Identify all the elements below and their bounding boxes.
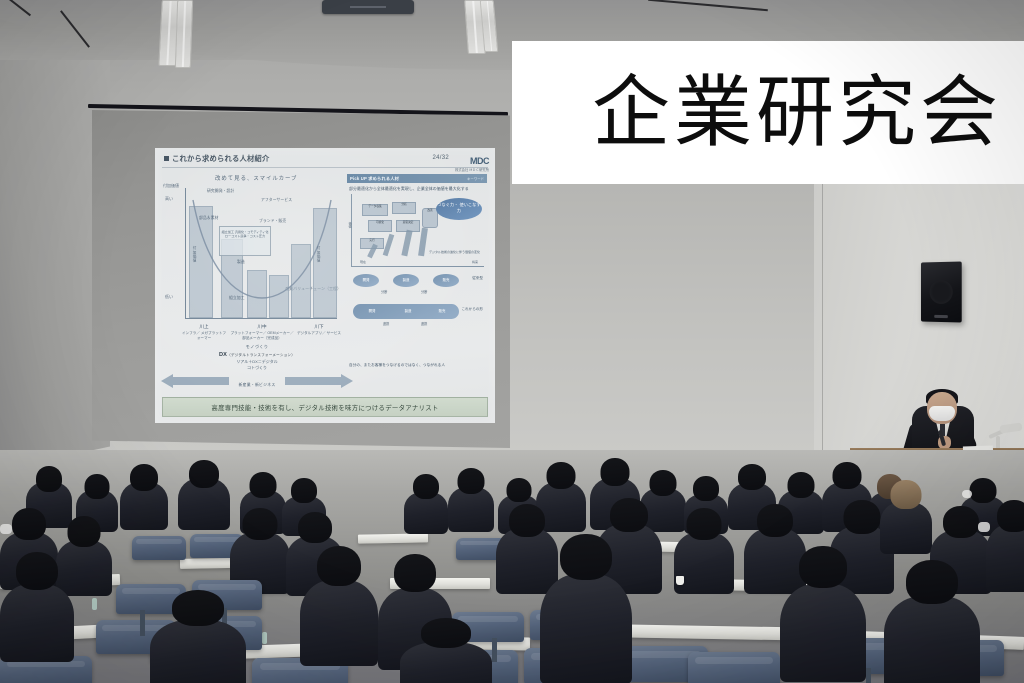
banner-title-text: 企業研究会: [592, 74, 1002, 152]
face-mask-icon: [929, 406, 955, 421]
chart-bar-label: 付加価値: [193, 246, 198, 262]
paper-cup: [676, 576, 684, 585]
speaker-driver: [929, 280, 952, 304]
chart-foot-title: 川中: [229, 324, 295, 330]
audience-area: [0, 450, 1024, 683]
water-bottle: [262, 632, 267, 644]
attendee: [178, 460, 230, 530]
dx-arrows: [169, 374, 345, 388]
dx-title-sub: （デジタルトランスフォーメーション）: [227, 353, 295, 357]
chart-foot-title: 川下: [295, 324, 343, 330]
slide-title: これから求められる人材紹介: [164, 154, 269, 164]
smile-curve-chart: 改めて見る、スマイルカーブ 付加価値 高い 低い 産業バリューチェーン（工程） …: [163, 174, 341, 364]
speaker-brand-label: [934, 315, 948, 318]
lecture-chair: [688, 652, 780, 683]
attendee: [120, 464, 168, 530]
chart-bar: [291, 244, 311, 318]
panel-foot-text: 自分の、またお客様をつなげるのではなく、つながれる人: [349, 363, 445, 368]
panel-oval: 販売: [425, 304, 459, 319]
panel-oval: 製造: [391, 304, 425, 319]
panel-oval: 製造: [393, 274, 419, 287]
panel-row-connected: 開発 製造 販売 連携 連携 これからの形: [351, 304, 483, 324]
lecture-hall-photo: これから求められる人材紹介 24/32 MDC 株式会社 ＭＤＣ研究所 改めて見…: [0, 0, 1024, 683]
wall-speaker-icon: [921, 261, 962, 322]
panel-header-right: キーワード: [467, 176, 484, 181]
slide-summary-text: 高度専門技能・技術を有し、デジタル技術を味方につけるデータアナリスト: [211, 403, 438, 412]
lecture-chair: [132, 536, 186, 560]
chair-leg: [492, 638, 497, 662]
ceiling-vent: [322, 0, 414, 14]
panel-row-note: これからの形: [461, 307, 483, 312]
chair-leg: [140, 610, 145, 636]
panel-arrow: [383, 234, 395, 256]
logo-subtitle: 株式会社 ＭＤＣ研究所: [455, 169, 489, 172]
chart-bar: [247, 270, 267, 318]
panel-header: Pick UP 求められる人材 キーワード: [347, 174, 487, 183]
chart-x-axis: [185, 318, 337, 319]
chart-annotation: アフターサービス: [261, 198, 292, 203]
desk: [358, 533, 428, 543]
chart-foot-sub: インフラ／ メガプラットフォーマー: [182, 331, 226, 340]
slide-divider: [162, 167, 488, 168]
slide-title-bullet: [164, 156, 169, 161]
chart-bar: [313, 208, 337, 318]
dx-arrow-right: [285, 377, 341, 385]
chart-bar: [269, 275, 289, 318]
dx-sub-line-1: リアル＋DX＝デジタル: [169, 359, 345, 364]
panel-oval-caption: 連携: [383, 321, 389, 326]
presentation-slide: これから求められる人材紹介 24/32 MDC 株式会社 ＭＤＣ研究所 改めて見…: [155, 148, 495, 423]
chart-ylabel: 付加価値: [163, 183, 179, 189]
chart-annotation: ブランド・販売: [259, 219, 286, 224]
dx-mono-label: モノづくり: [169, 344, 345, 350]
panel-oval: 開発: [353, 274, 379, 287]
attendee: [448, 468, 494, 532]
dx-arrow-left: [173, 377, 229, 385]
panel-oval-caption: 分断: [421, 289, 427, 294]
attendee: [400, 618, 492, 683]
chart-foot-group: 川下 デジタルアプリ／ サービス: [295, 324, 343, 336]
panel-arrow: [418, 228, 428, 257]
panel-box: 分析: [392, 202, 416, 214]
panel-axis-left: 価値: [348, 222, 352, 228]
panel-arrow: [401, 230, 412, 257]
slide-page-indicator: 24/32: [432, 155, 449, 161]
panel-oval: 販売: [433, 274, 459, 287]
attendee: [540, 534, 632, 683]
attendee: [300, 546, 378, 666]
dx-title: DX（デジタルトランスフォーメーション）: [169, 352, 345, 358]
panel-axis-bottom-left: 現在: [360, 260, 366, 264]
logo-mark: MDC: [470, 156, 489, 166]
dx-arrow-left-head: [161, 374, 173, 388]
panel-header-title: Pick UP 求められる人材: [350, 176, 399, 182]
panel-keyword-badge: つなぐ力・ 使いこなす力: [436, 198, 482, 220]
panel-oval: 開発: [355, 304, 389, 319]
panel-row-separated: 開発 製造 販売 分断 分断 従来型: [351, 274, 483, 294]
dx-block: モノづくり DX（デジタルトランスフォーメーション） リアル＋DX＝デジタル コ…: [169, 344, 345, 402]
panel-axis-bottom-right: 将来: [472, 260, 478, 264]
attendee: [404, 474, 448, 534]
slide-title-text: これから求められる人材紹介: [172, 154, 269, 163]
chart-axis-high: 高い: [165, 196, 173, 202]
dx-title-main: DX: [219, 352, 227, 358]
panel-diagram: データ収集 分析 可視化 意思決定 実行 改善 つなぐ力・ 使いこなす力 価値 …: [351, 194, 484, 267]
pickup-panel: Pick UP 求められる人材 キーワード 部分最適化から全体最適化を実現し、企…: [347, 174, 487, 370]
water-bottle: [92, 598, 97, 610]
panel-axis-note: デジタル技術の進化に伴う価値の変化: [429, 250, 480, 254]
panel-row-note: 従来型: [472, 276, 483, 281]
attendee: [150, 590, 246, 683]
chart-trough-label: 組立加工: [229, 296, 245, 301]
chart-foot-group: 川上 インフラ／ メガプラットフォーマー: [181, 324, 227, 341]
attendee: [0, 552, 74, 662]
chart-foot-title: 川上: [181, 324, 227, 330]
slide-summary-banner: 高度専門技能・技術を有し、デジタル技術を味方につけるデータアナリスト: [162, 397, 488, 417]
attendee: [986, 500, 1024, 592]
chart-y-axis: [185, 188, 186, 318]
attendee: [884, 560, 980, 683]
attendee: [880, 480, 932, 554]
panel-box: データ収集: [362, 204, 388, 216]
slide-logo: MDC 株式会社 ＭＤＣ研究所: [455, 152, 489, 172]
dx-arrow-right-head: [341, 374, 353, 388]
ceiling-light: [175, 0, 193, 68]
chart-foot-sub: デジタルアプリ／ サービス: [297, 331, 341, 335]
chart-annotation: 研究開発・設計: [207, 189, 234, 194]
chart-mid-box: 組立加工 汎用化・コモディティ化 ローコスト競争・コスト圧力: [219, 226, 271, 256]
chart-annotation: 部品＆素材: [199, 216, 218, 221]
panel-lead-text: 部分最適化から全体最適化を実現し、企業全体の価値を最大化する: [349, 186, 469, 192]
chart-mid-label: 製造: [237, 260, 245, 265]
chart-foot-group: 川中 プラットフォーマー／ OEMメーカー／部品メーカー（完成品）: [229, 324, 295, 341]
chart-foot-sub: プラットフォーマー／ OEMメーカー／部品メーカー（完成品）: [230, 331, 293, 340]
panel-box: 可視化: [368, 220, 392, 232]
chair-leg: [866, 668, 871, 683]
dx-sub-line-2: コトづくり: [169, 365, 345, 370]
panel-oval-caption: 分断: [381, 289, 387, 294]
attendee: [780, 546, 866, 682]
panel-oval-caption: 連携: [421, 321, 427, 326]
chart-title: 改めて見る、スマイルカーブ: [215, 174, 297, 182]
chart-bar-label: 付加価値: [317, 246, 322, 262]
chart-axis-low: 低い: [165, 294, 173, 300]
title-banner: 企業研究会: [512, 41, 1024, 184]
